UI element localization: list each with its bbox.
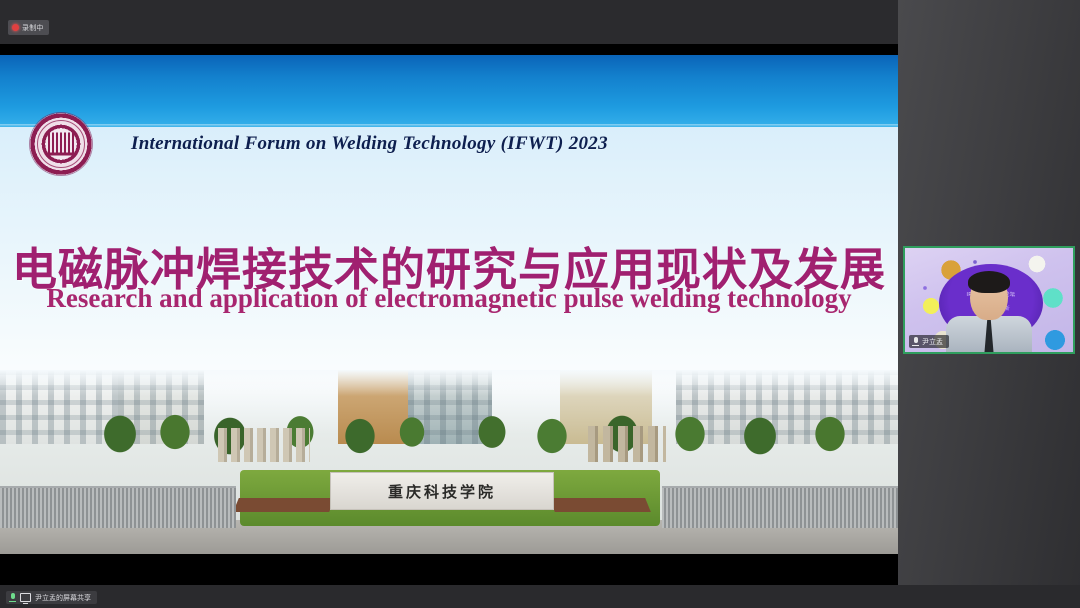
recording-badge: 录制中 <box>8 20 49 35</box>
seal-building-motif <box>48 133 74 156</box>
campus-photo: 重庆科技学院 <box>0 370 898 554</box>
photo-soil-right <box>549 498 651 512</box>
university-seal-icon <box>30 113 92 175</box>
letterbox-bottom <box>0 554 898 585</box>
photo-gate-sign: 重庆科技学院 <box>330 472 554 510</box>
presentation-slide: International Forum on Welding Technolog… <box>0 55 898 554</box>
photo-statues-right <box>588 426 666 462</box>
participant-name-tag: 尹立孟 <box>909 335 949 348</box>
recording-label: 录制中 <box>22 23 44 33</box>
screen-share-icon <box>20 593 31 602</box>
participant-hair <box>968 271 1010 293</box>
shared-screen-stage[interactable]: 录制中 International Forum on Welding Techn… <box>0 0 898 608</box>
bottom-status-bar <box>0 585 1080 608</box>
recording-dot-icon <box>12 24 19 31</box>
photo-fence-left <box>0 486 236 528</box>
microphone-icon <box>912 337 919 346</box>
share-status-label: 尹立孟的屏幕共享 <box>35 593 91 603</box>
participant-name-label: 尹立孟 <box>922 337 943 347</box>
banner-title: International Forum on Welding Technolog… <box>131 133 608 155</box>
photo-fence-right <box>662 486 898 528</box>
slide-title-english: Research and application of electromagne… <box>0 283 898 314</box>
slide-banner <box>0 55 898 127</box>
screen-share-status-chip[interactable]: 尹立孟的屏幕共享 <box>6 591 97 604</box>
photo-statues-left <box>218 428 310 462</box>
participant-figure <box>946 274 1032 352</box>
participant-video-tile[interactable]: IFWT 焊接技术论坛 智能制造与创新 尹立孟 <box>903 246 1075 354</box>
microphone-icon <box>9 593 16 602</box>
photo-top-fade <box>0 370 898 396</box>
shared-screen-topbar: 录制中 <box>0 0 898 44</box>
photo-trees <box>0 404 898 470</box>
gate-sign-text: 重庆科技学院 <box>388 481 496 502</box>
zoom-meeting-window: 录制中 International Forum on Welding Techn… <box>0 0 1080 608</box>
letterbox-top <box>0 44 898 55</box>
photo-soil-left <box>233 498 335 512</box>
